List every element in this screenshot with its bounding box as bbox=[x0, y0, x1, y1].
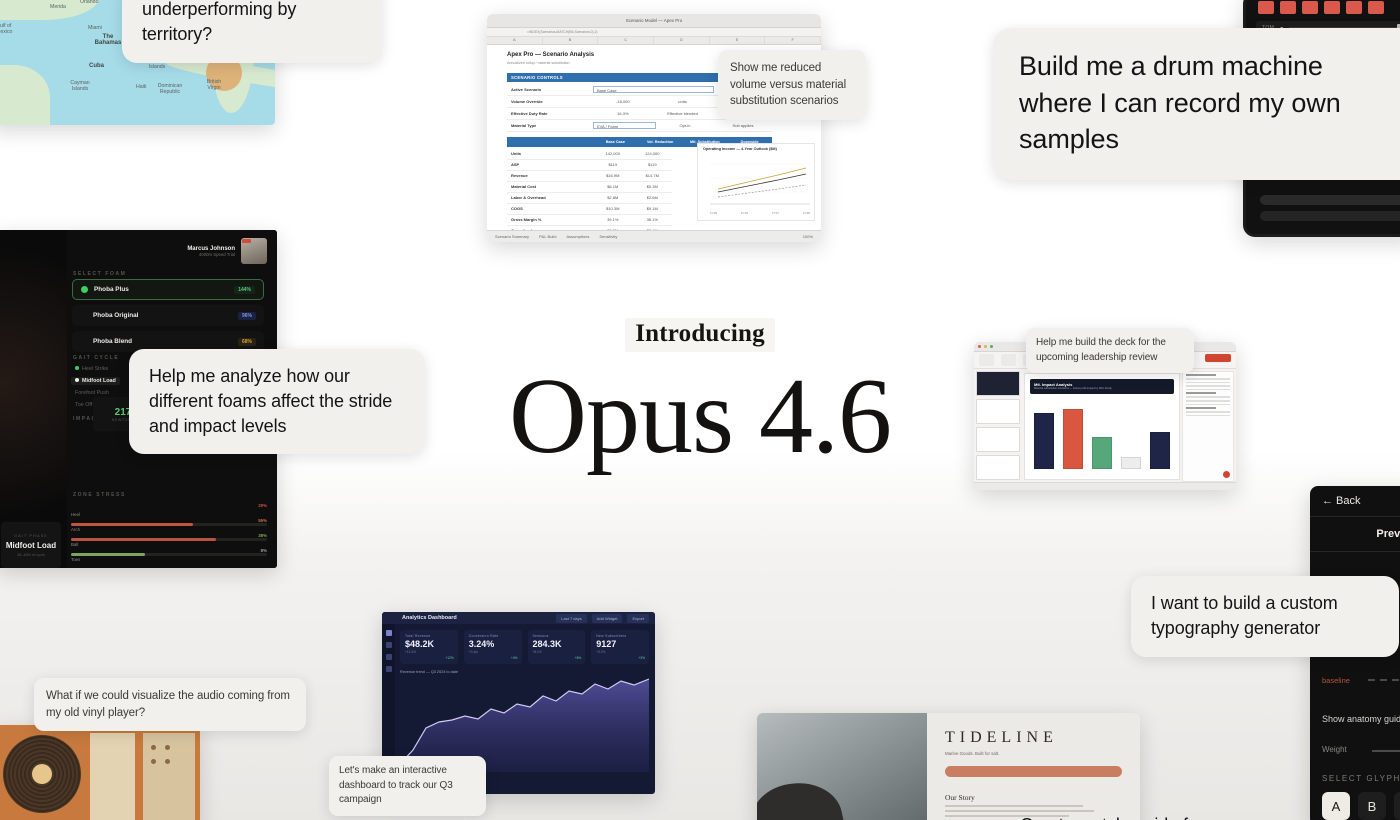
spreadsheet-formula-bar[interactable]: =INDEX(Scenarios,MATCH(B6,Scenarios,0),2… bbox=[487, 28, 821, 37]
users-icon[interactable] bbox=[386, 654, 392, 660]
preview-button[interactable]: Preview bbox=[1310, 517, 1400, 551]
th-0 bbox=[507, 137, 593, 147]
vinyl-record-icon bbox=[3, 735, 81, 813]
kpi-badge: +8% bbox=[575, 656, 581, 660]
th-2: Vol. Reduction bbox=[638, 137, 683, 147]
row-cell[interactable]: 124,000 bbox=[633, 151, 673, 156]
kpi-label: Total Revenue bbox=[405, 634, 453, 638]
zone-row-3: Toes 8% bbox=[71, 548, 267, 568]
ctl-value-1[interactable]: -18,000 bbox=[593, 99, 653, 104]
kpi-label: Conversion Rate bbox=[469, 634, 517, 638]
map-label-4: Miami bbox=[88, 25, 102, 31]
brand-tagline: Marine Goods. Built for salt. bbox=[945, 751, 1122, 756]
dashboard-title: Analytics Dashboard bbox=[388, 615, 457, 621]
col-c[interactable]: C bbox=[598, 37, 654, 44]
row-label: Units bbox=[507, 151, 593, 156]
glyph-option-a[interactable]: A bbox=[1322, 792, 1350, 820]
kpi-value: $48.2K bbox=[405, 639, 453, 649]
foam-value: 144% bbox=[234, 286, 255, 294]
zone-pct: 55% bbox=[258, 518, 267, 523]
ctl-value-3[interactable]: EVA / Foam bbox=[593, 122, 656, 129]
foam-user-text: Marcus Johnson 4000m Speed Trial bbox=[187, 246, 235, 257]
map-label-10: Dominican Republic bbox=[156, 83, 184, 95]
drum-pad[interactable] bbox=[1346, 1, 1362, 14]
prompt-bubble-dashboard[interactable]: Let's make an interactive dashboard to t… bbox=[329, 756, 486, 816]
vinyl-panel-right bbox=[143, 733, 195, 820]
pad-row-top[interactable] bbox=[1258, 1, 1384, 14]
row-cell[interactable]: $119 bbox=[593, 162, 633, 167]
row-cell[interactable]: 142,000 bbox=[593, 151, 633, 156]
kpi-row: Total Revenue $48.2K +12.4% +12% Convers… bbox=[400, 630, 649, 664]
prompt-bubble-vinyl[interactable]: What if we could visualize the audio com… bbox=[34, 678, 306, 731]
select-foam-label: SELECT FOAM bbox=[73, 271, 126, 277]
zoom-level[interactable]: 100% bbox=[803, 234, 821, 239]
sheet-tab[interactable]: Scenario Summary bbox=[495, 234, 529, 239]
map-label-11: British Virgin bbox=[203, 79, 225, 91]
chart-caption: Revenue trend — Q3 2024 to date bbox=[400, 670, 649, 674]
kpi-badge: +3% bbox=[639, 656, 645, 660]
row-label: COGS bbox=[507, 206, 593, 211]
xtick: FY26 bbox=[741, 211, 748, 215]
prompt-bubble-scenarios[interactable]: Show me reduced volume versus material s… bbox=[718, 50, 866, 120]
col-a[interactable]: A bbox=[487, 37, 543, 44]
col-d[interactable]: D bbox=[654, 37, 710, 44]
foam-name: Phoba Plus bbox=[94, 286, 234, 293]
status-dot-icon bbox=[81, 286, 88, 293]
kpi-card-0[interactable]: Total Revenue $48.2K +12.4% +12% bbox=[400, 630, 458, 664]
prompt-bubble-territory[interactable]: underperforming by territory? bbox=[122, 0, 382, 63]
th-1: Base Case bbox=[593, 137, 638, 147]
map-label-12: Merida bbox=[50, 4, 66, 10]
prompt-bubble-styleguide[interactable]: Create a style guide for bbox=[1000, 798, 1300, 820]
kpi-badge: +12% bbox=[446, 656, 454, 660]
chart-svg bbox=[698, 156, 816, 214]
baseline-guide-icon bbox=[1368, 679, 1400, 681]
ctl-note-3: Opt-in bbox=[656, 123, 714, 128]
presentation-statusbar bbox=[974, 482, 1236, 490]
kpi-delta: +12.4% bbox=[405, 650, 453, 654]
spreadsheet-column-headers[interactable]: A B C D E F bbox=[487, 37, 821, 45]
drum-pad[interactable] bbox=[1302, 1, 1318, 14]
avatar[interactable] bbox=[241, 238, 267, 264]
zone-pct: 8% bbox=[261, 548, 267, 553]
kpi-card-3[interactable]: New Subscribers 9127 +3.2% +3% bbox=[591, 630, 649, 664]
divider bbox=[1310, 551, 1400, 552]
zone-stress-label: ZONE STRESS bbox=[73, 492, 126, 498]
dashboard-header: Analytics Dashboard Last 7 days Add Widg… bbox=[382, 612, 655, 624]
back-label: ← Back bbox=[1322, 495, 1361, 507]
row-cell[interactable]: 39.1% bbox=[593, 217, 633, 222]
row-cell[interactable]: $2.8M bbox=[593, 195, 633, 200]
sheet-tab[interactable]: P&L Build bbox=[539, 234, 556, 239]
map-label-6: Cuba bbox=[89, 63, 104, 69]
chart-title: Operating Income — 4-Year Outlook ($M) bbox=[703, 147, 777, 151]
preview-label: Preview bbox=[1376, 528, 1400, 540]
spreadsheet-titlebar: Scenario Model — Apex Pro bbox=[487, 14, 821, 28]
spreadsheet-title: Scenario Model — Apex Pro bbox=[626, 18, 683, 23]
map-label-13: Gulf of Mexico bbox=[0, 23, 20, 35]
kpi-value: 9127 bbox=[596, 639, 644, 649]
kpi-label: New Subscribers bbox=[596, 634, 644, 638]
spreadsheet-sheet-tabs[interactable]: Scenario Summary P&L Build Assumptions S… bbox=[487, 230, 821, 242]
zone-label: Arch bbox=[71, 527, 80, 532]
zone-label: Ball bbox=[71, 542, 78, 547]
zone-label: Toes bbox=[71, 557, 80, 562]
row-cell[interactable]: $2.6M bbox=[633, 195, 673, 200]
phase-value: Midfoot Load bbox=[6, 541, 56, 550]
sheet-tab[interactable]: Sensitivity bbox=[599, 234, 617, 239]
ctl-label-3: Material Type bbox=[507, 123, 593, 128]
operating-income-chart[interactable]: Operating Income — 4-Year Outlook ($M) F… bbox=[697, 143, 815, 221]
map-label-5: The Bahamas bbox=[93, 34, 123, 46]
sheet-tab[interactable]: Assumptions bbox=[566, 234, 589, 239]
announcement-canvas: New Orleans Jacksonville Orlando Merida … bbox=[0, 0, 1400, 820]
baseline-label: baseline bbox=[1322, 676, 1350, 685]
row-cell[interactable]: $6.1M bbox=[593, 184, 633, 189]
row-label: Gross Margin % bbox=[507, 217, 593, 222]
dash bbox=[1380, 679, 1387, 681]
dot bbox=[165, 745, 170, 750]
ctl-label-1: Volume Override bbox=[507, 99, 593, 104]
gait-phase-card: GAIT PHASE Midfoot Load 28–48% of cycle bbox=[1, 522, 61, 568]
kpi-delta: +8.1% bbox=[533, 650, 581, 654]
col-e[interactable]: E bbox=[710, 37, 766, 44]
kpi-badge: +4% bbox=[511, 656, 517, 660]
user-subtitle: 4000m Speed Trial bbox=[187, 252, 235, 257]
row-cell[interactable]: 38.1% bbox=[633, 217, 673, 222]
row-cell[interactable]: $5.3M bbox=[633, 184, 673, 189]
drum-pad[interactable] bbox=[1368, 1, 1384, 14]
ctl-note-1: units bbox=[653, 99, 713, 104]
kpi-card-1[interactable]: Conversion Rate 3.24% +0.4pt +4% bbox=[464, 630, 522, 664]
xtick: FY27 bbox=[772, 211, 779, 215]
map-label-8: Cayman Islands bbox=[66, 80, 94, 92]
prompt-bubble-deck[interactable]: Help me build the deck for the upcoming … bbox=[1026, 328, 1194, 373]
zone-pct: 29% bbox=[258, 503, 267, 508]
table-row[interactable]: Material Type EVA / Foam Opt-in Sub appl… bbox=[507, 120, 772, 132]
eyebrow-introducing: Introducing bbox=[625, 318, 775, 352]
live-badge bbox=[242, 239, 251, 243]
map-label-2: Orlando bbox=[80, 0, 98, 5]
shop-cta-button[interactable] bbox=[945, 766, 1122, 777]
row-cell[interactable]: $119 bbox=[633, 162, 673, 167]
ctl-label-0: Active Scenario bbox=[507, 87, 593, 92]
foam-option-0[interactable]: Phoba Plus 144% bbox=[72, 279, 264, 300]
back-button[interactable]: ← Back bbox=[1310, 486, 1400, 516]
ctl-note-2: Effective blended bbox=[653, 111, 713, 116]
drum-pad[interactable] bbox=[1258, 1, 1274, 14]
col-b[interactable]: B bbox=[543, 37, 599, 44]
dash bbox=[1368, 679, 1375, 681]
col-f[interactable]: F bbox=[765, 37, 821, 44]
row-cell[interactable]: $16.9M bbox=[593, 173, 633, 178]
vinyl-photo-card[interactable] bbox=[0, 725, 200, 820]
kpi-value: 3.24% bbox=[469, 639, 517, 649]
row-label: Labor & Overhead bbox=[507, 195, 593, 200]
brand-title: TIDELINE bbox=[945, 729, 1122, 747]
xtick: FY25 bbox=[710, 211, 717, 215]
foam-user-block[interactable]: Marcus Johnson 4000m Speed Trial bbox=[187, 238, 267, 264]
drum-pad[interactable] bbox=[1280, 1, 1296, 14]
drum-timeline-bar[interactable] bbox=[1260, 211, 1400, 221]
chart-xticks: FY25 FY26 FY27 FY28 bbox=[710, 211, 810, 215]
phase-label: GAIT PHASE bbox=[14, 533, 48, 538]
phase-sub: 28–48% of cycle bbox=[17, 553, 45, 557]
ctl-value-0[interactable]: Base Case bbox=[593, 86, 714, 93]
home-icon[interactable] bbox=[386, 630, 392, 636]
row-label: Revenue bbox=[507, 173, 593, 178]
vinyl-panel-left bbox=[90, 733, 135, 820]
row-label: ASP bbox=[507, 162, 593, 167]
map-label-9: Haiti bbox=[136, 84, 146, 90]
gear-icon[interactable] bbox=[386, 666, 392, 672]
kpi-value: 284.3K bbox=[533, 639, 581, 649]
spreadsheet-window[interactable]: Scenario Model — Apex Pro =INDEX(Scenari… bbox=[487, 14, 821, 242]
row-cell[interactable]: $14.7M bbox=[633, 173, 673, 178]
dash bbox=[1392, 679, 1399, 681]
kpi-delta: +3.2% bbox=[596, 650, 644, 654]
date-range-button[interactable]: Last 7 days bbox=[556, 614, 586, 623]
kpi-card-2[interactable]: Sessions 284.3K +8.1% +8% bbox=[528, 630, 586, 664]
ctl-label-2: Effective Duty Rate bbox=[507, 111, 593, 116]
dot bbox=[165, 759, 170, 764]
rock-shape bbox=[757, 774, 848, 820]
ctl-note2-3: Sub applies bbox=[714, 123, 772, 128]
weight-label: Weight bbox=[1322, 745, 1347, 754]
zone-label: Heel bbox=[71, 512, 80, 517]
ctl-value-2[interactable]: 16.3% bbox=[593, 111, 653, 116]
weight-slider[interactable] bbox=[1372, 750, 1400, 752]
dot bbox=[151, 759, 156, 764]
dot bbox=[151, 745, 156, 750]
hero-photo bbox=[757, 713, 927, 820]
drum-pad[interactable] bbox=[1324, 1, 1340, 14]
zone-pct: 38% bbox=[258, 533, 267, 538]
anatomy-toggle[interactable]: Show anatomy guides bbox=[1322, 714, 1400, 724]
prompt-bubble-drum[interactable]: Build me a drum machine where I can reco… bbox=[993, 28, 1400, 180]
drum-transport-bar[interactable] bbox=[1260, 195, 1400, 205]
sheet-doc-subtitle: Annualized rollup / material substitutio… bbox=[507, 61, 570, 65]
xtick: FY28 bbox=[803, 211, 810, 215]
kpi-label: Sessions bbox=[533, 634, 581, 638]
glyph-option-b[interactable]: B bbox=[1358, 792, 1386, 820]
formula-text: =INDEX(Scenarios,MATCH(B6,Scenarios,0),2… bbox=[487, 28, 821, 37]
export-button[interactable]: Export bbox=[627, 614, 649, 623]
chart-icon[interactable] bbox=[386, 642, 392, 648]
add-widget-button[interactable]: Add Widget bbox=[592, 614, 623, 623]
user-name: Marcus Johnson bbox=[187, 246, 235, 252]
glyph-option-c[interactable]: C bbox=[1394, 792, 1400, 820]
row-cell[interactable]: $10.3M bbox=[593, 206, 633, 211]
prompt-bubble-foams[interactable]: Help me analyze how our different foams … bbox=[129, 349, 425, 454]
prompt-bubble-typography[interactable]: I want to build a custom typography gene… bbox=[1131, 576, 1399, 657]
row-cell[interactable]: $9.1M bbox=[633, 206, 673, 211]
kpi-delta: +0.4pt bbox=[469, 650, 517, 654]
select-glyph-label: SELECT GLYPH bbox=[1322, 774, 1400, 783]
row-label: Material Cost bbox=[507, 184, 593, 189]
sheet-doc-title: Apex Pro — Scenario Analysis bbox=[507, 52, 594, 58]
